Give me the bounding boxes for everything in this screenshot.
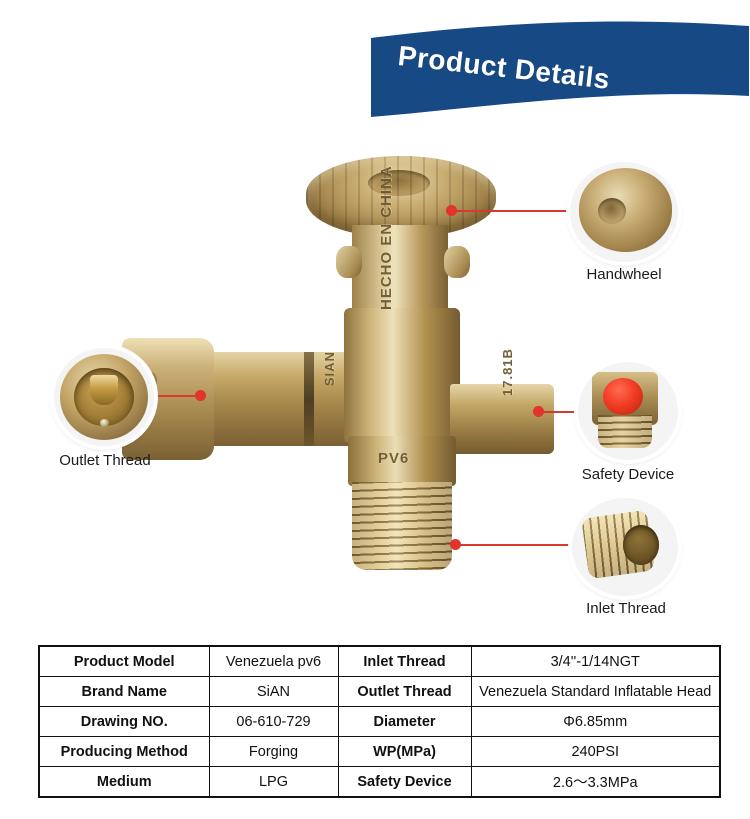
spec-value: 2.6〜3.3MPa [471,767,720,798]
table-row: Drawing NO. 06-610-729 Diameter Φ6.85mm [39,707,720,737]
spec-value: 240PSI [471,737,720,767]
callout-label-safety-device: Safety Device [548,466,708,483]
inset-safety-device [578,362,678,460]
inset-safety-threads [598,415,652,448]
product-image-stage: HECHO EN CHINA SIAN PV6 17.81B Handwheel… [0,130,750,640]
callout-label-handwheel: Handwheel [546,266,702,283]
connector-dot-inlet-thread [450,539,461,550]
spec-value: 3/4''-1/14NGT [471,646,720,677]
spec-value: Venezuela pv6 [209,646,338,677]
spec-key: Producing Method [39,737,209,767]
inset-inlet-bore [623,525,659,564]
connector-dot-safety-device [533,406,544,417]
spec-value: LPG [209,767,338,798]
spec-key: Inlet Thread [338,646,471,677]
product-details-banner: Product Details [360,18,750,123]
inset-outlet-core [90,375,118,404]
connector-line-inlet-thread [460,544,580,546]
valve-bonnet-lug-left [336,246,362,278]
table-row: Medium LPG Safety Device 2.6〜3.3MPa [39,767,720,798]
connector-dot-outlet-thread [195,390,206,401]
inset-outlet-thread-art [54,348,154,446]
spec-key: Brand Name [39,677,209,707]
engraving-origin: HECHO EN CHINA [378,165,395,310]
table-row: Producing Method Forging WP(MPa) 240PSI [39,737,720,767]
inset-safety-device-art [578,362,678,460]
spec-value: SiAN [209,677,338,707]
spec-key: Safety Device [338,767,471,798]
specification-table: Product Model Venezuela pv6 Inlet Thread… [38,645,721,798]
valve-body [344,308,460,442]
callout-label-inlet-thread: Inlet Thread [546,600,706,617]
connector-line-handwheel [456,210,572,212]
spec-value: Φ6.85mm [471,707,720,737]
spec-value: 06-610-729 [209,707,338,737]
valve-bonnet-lug-right [444,246,470,278]
callout-label-outlet-thread: Outlet Thread [26,452,184,469]
inset-outlet-thread [54,348,154,446]
inset-handwheel-art [570,162,678,262]
inset-inlet-thread-art [572,498,678,596]
inset-handwheel-hole [598,198,626,224]
spec-key: Medium [39,767,209,798]
connector-dot-handwheel [446,205,457,216]
inset-handwheel [570,162,678,262]
spec-value: Forging [209,737,338,767]
spec-key: Drawing NO. [39,707,209,737]
banner-ribbon-shape [360,18,750,123]
spec-key: WP(MPa) [338,737,471,767]
engraving-brand: SIAN [322,351,337,386]
table-row: Brand Name SiAN Outlet Thread Venezuela … [39,677,720,707]
valve-inlet-thread [352,482,452,570]
engraving-code-mark: 17.81B [500,348,515,396]
inset-safety-red-cap [603,378,643,415]
table-row: Product Model Venezuela pv6 Inlet Thread… [39,646,720,677]
spec-key: Product Model [39,646,209,677]
specification-table-body: Product Model Venezuela pv6 Inlet Thread… [39,646,720,797]
spec-value: Venezuela Standard Inflatable Head [471,677,720,707]
inset-inlet-thread [572,498,678,596]
engraving-model-mark: PV6 [378,450,409,467]
spec-key: Diameter [338,707,471,737]
valve-outlet-ring [304,352,314,446]
spec-key: Outlet Thread [338,677,471,707]
